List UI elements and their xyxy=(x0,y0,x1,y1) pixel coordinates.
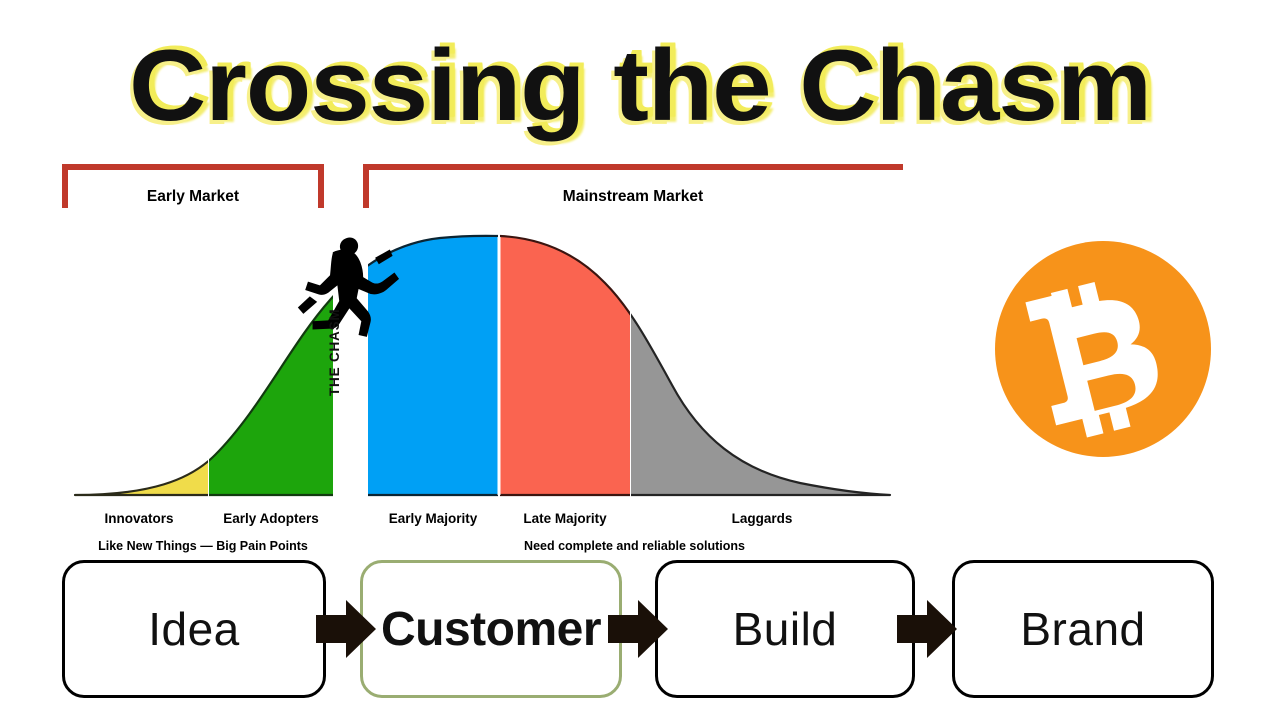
flow-step-customer[interactable]: Customer xyxy=(360,560,622,698)
flow-step-idea[interactable]: Idea xyxy=(62,560,326,698)
segment-label-late-majority: Late Majority xyxy=(500,511,630,526)
segment-label-early-adopters: Early Adopters xyxy=(209,511,333,526)
flow-arrow-1 xyxy=(316,596,378,662)
flow-step-build-label: Build xyxy=(733,602,838,656)
flow-step-brand[interactable]: Brand xyxy=(952,560,1214,698)
adoption-curve: THE CHASM xyxy=(0,0,960,520)
segment-label-innovators: Innovators xyxy=(70,511,208,526)
early-needs-text: Like New Things — Big Pain Points xyxy=(68,538,338,554)
flow-arrow-3 xyxy=(897,596,959,662)
mainstream-needs-annotation: Need complete and reliable solutions xyxy=(368,538,893,560)
slide-canvas: Crossing the Chasm Early Market Mainstre… xyxy=(0,0,1280,720)
segment-label-laggards: Laggards xyxy=(631,511,893,526)
early-needs-annotation: Like New Things — Big Pain Points xyxy=(68,538,330,560)
flow-arrow-2 xyxy=(608,596,670,662)
flow-step-brand-label: Brand xyxy=(1020,602,1145,656)
bitcoin-icon xyxy=(994,240,1212,458)
adoption-curve-svg xyxy=(0,0,960,520)
flow-step-build[interactable]: Build xyxy=(655,560,915,698)
mainstream-needs-text: Need complete and reliable solutions xyxy=(368,538,901,554)
curve-segments xyxy=(75,236,890,495)
segment-early-majority xyxy=(75,236,890,495)
flow-step-idea-label: Idea xyxy=(148,602,240,656)
flow-step-customer-label: Customer xyxy=(381,602,601,657)
chasm-label: THE CHASM xyxy=(327,276,342,396)
segment-label-early-majority: Early Majority xyxy=(368,511,498,526)
